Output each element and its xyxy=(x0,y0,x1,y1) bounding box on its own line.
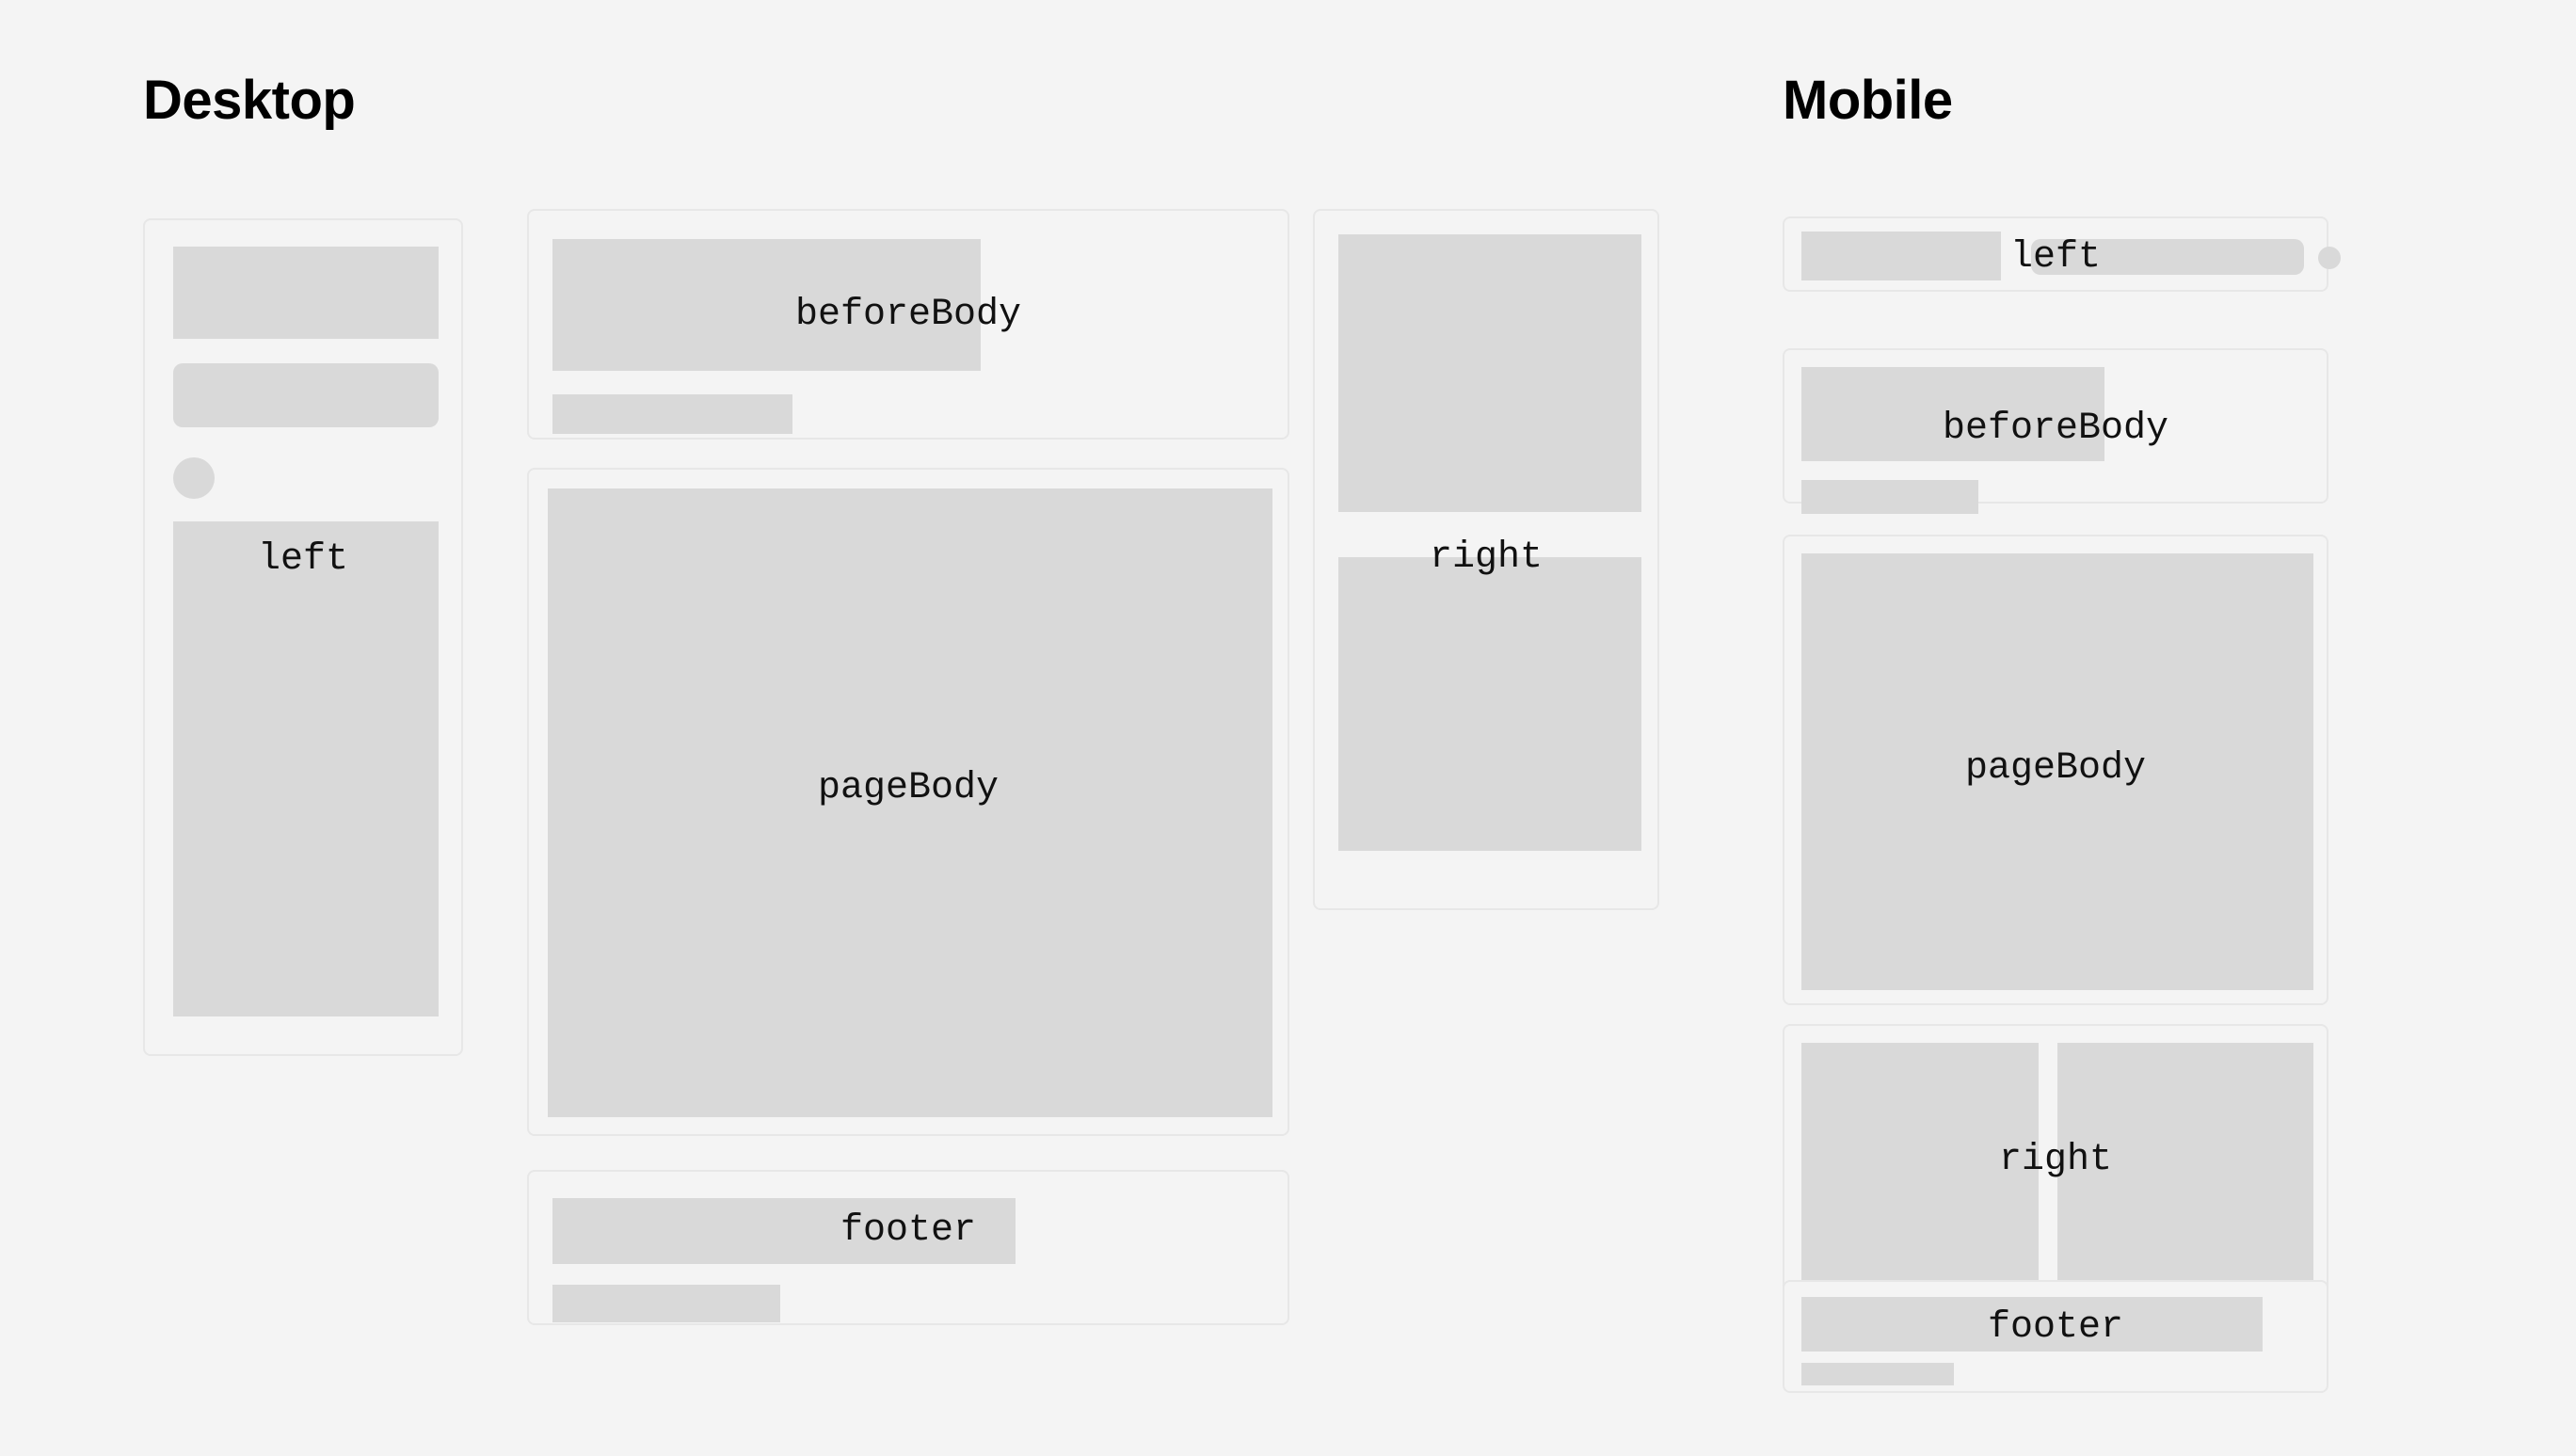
skeleton-avatar-circle xyxy=(2318,247,2341,269)
skeleton-bar xyxy=(552,1285,780,1322)
skeleton-block xyxy=(1338,557,1641,851)
skeleton-block-large xyxy=(1801,553,2313,990)
desktop-pagebody-region-card xyxy=(527,468,1289,1136)
mobile-footer-region-card xyxy=(1783,1280,2328,1393)
mobile-pagebody-region-card xyxy=(1783,535,2328,1005)
skeleton-block xyxy=(173,247,439,339)
desktop-section-title: Desktop xyxy=(143,73,355,128)
skeleton-block-tall xyxy=(173,521,439,1016)
skeleton-block xyxy=(1801,232,2001,280)
desktop-right-region-card xyxy=(1313,209,1659,910)
mobile-beforebody-region-card xyxy=(1783,348,2328,504)
skeleton-block xyxy=(1801,367,2104,461)
skeleton-bar xyxy=(173,363,439,427)
mobile-right-region-card xyxy=(1783,1024,2328,1297)
skeleton-block xyxy=(552,1198,1016,1264)
desktop-beforebody-region-card xyxy=(527,209,1289,440)
skeleton-bar xyxy=(1801,480,1978,514)
mobile-left-region-card xyxy=(1783,216,2328,292)
skeleton-bar xyxy=(1801,1363,1954,1385)
skeleton-block xyxy=(2057,1043,2313,1282)
desktop-left-region-card xyxy=(143,218,463,1056)
skeleton-bar xyxy=(552,394,792,434)
skeleton-block xyxy=(1338,234,1641,512)
skeleton-bar xyxy=(2031,239,2304,275)
desktop-footer-region-card xyxy=(527,1170,1289,1325)
skeleton-block xyxy=(552,239,981,371)
skeleton-block xyxy=(1801,1297,2263,1352)
skeleton-avatar-circle xyxy=(173,457,215,499)
skeleton-block xyxy=(1801,1043,2039,1282)
mobile-section-title: Mobile xyxy=(1783,73,1953,128)
skeleton-block-large xyxy=(548,488,1272,1117)
